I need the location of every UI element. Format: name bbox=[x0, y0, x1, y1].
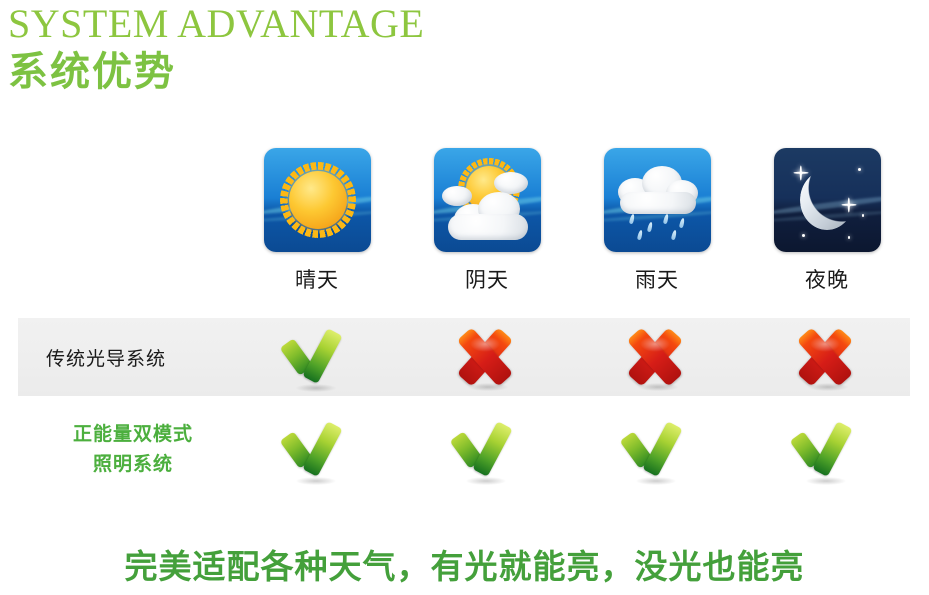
cell-traditional-cloudy bbox=[400, 329, 570, 385]
weather-column-header-row: 晴天 阴天 bbox=[232, 148, 929, 298]
cell-traditional-rainy bbox=[570, 329, 740, 385]
star-icon bbox=[858, 168, 861, 171]
star-icon bbox=[862, 214, 865, 217]
check-icon bbox=[286, 329, 344, 385]
raindrop-icon bbox=[670, 230, 676, 241]
rainy-icon bbox=[604, 148, 711, 252]
mark-drop-shadow bbox=[296, 477, 336, 485]
check-arm-long bbox=[642, 421, 682, 477]
cell-traditional-sunny bbox=[230, 329, 400, 385]
weather-column-rainy: 雨天 bbox=[572, 148, 742, 298]
page-title-chinese: 系统优势 bbox=[8, 48, 608, 96]
comparison-row-dualmode: 正能量双模式 照明系统 bbox=[18, 400, 910, 500]
check-arm-long bbox=[302, 421, 342, 477]
cloud-shape-icon bbox=[494, 172, 528, 194]
raindrop-icon bbox=[646, 222, 652, 233]
cross-icon bbox=[628, 330, 682, 384]
row-marks-traditional bbox=[230, 329, 910, 385]
check-icon bbox=[286, 422, 344, 478]
weather-label-night: 夜晚 bbox=[805, 264, 849, 294]
weather-label-cloudy: 阴天 bbox=[465, 264, 509, 294]
check-icon bbox=[626, 422, 684, 478]
weather-column-night: 夜晚 bbox=[742, 148, 912, 298]
star-icon bbox=[844, 200, 854, 210]
sun-disc-icon bbox=[289, 171, 347, 229]
cell-dualmode-night bbox=[740, 422, 910, 478]
cell-dualmode-sunny bbox=[230, 422, 400, 478]
mark-drop-shadow bbox=[638, 383, 678, 391]
slide-header: SYSTEM ADVANTAGE 系统优势 bbox=[8, 2, 608, 96]
page-title-english: SYSTEM ADVANTAGE bbox=[8, 2, 608, 46]
row-label-traditional: 传统光导系统 bbox=[18, 344, 230, 371]
row-label-dualmode: 正能量双模式 照明系统 bbox=[18, 420, 230, 480]
check-icon bbox=[796, 422, 854, 478]
cloud-shape-icon bbox=[442, 186, 472, 206]
cloud-shape-icon bbox=[448, 214, 528, 240]
row-marks-dualmode bbox=[230, 422, 910, 478]
cross-icon bbox=[798, 330, 852, 384]
night-moon-icon bbox=[774, 148, 881, 252]
weather-label-sunny: 晴天 bbox=[295, 264, 339, 294]
raindrop-icon bbox=[628, 214, 634, 225]
weather-column-sunny: 晴天 bbox=[232, 148, 402, 298]
slide-canvas: SYSTEM ADVANTAGE 系统优势 晴天 bbox=[0, 0, 929, 595]
cell-traditional-night bbox=[740, 329, 910, 385]
check-arm-long bbox=[302, 328, 342, 384]
cloud-shape-icon bbox=[620, 192, 696, 214]
mark-drop-shadow bbox=[468, 383, 508, 391]
row-label-dualmode-line2: 照明系统 bbox=[36, 450, 230, 480]
cell-dualmode-rainy bbox=[570, 422, 740, 478]
mark-drop-shadow bbox=[466, 477, 506, 485]
comparison-row-traditional: 传统光导系统 bbox=[18, 318, 910, 396]
cloudy-icon bbox=[434, 148, 541, 252]
mark-drop-shadow bbox=[296, 384, 336, 392]
star-icon bbox=[802, 234, 805, 237]
mark-drop-shadow bbox=[636, 477, 676, 485]
weather-column-cloudy: 阴天 bbox=[402, 148, 572, 298]
check-icon bbox=[456, 422, 514, 478]
raindrop-icon bbox=[636, 230, 642, 241]
weather-label-rainy: 雨天 bbox=[635, 264, 679, 294]
sunny-icon bbox=[264, 148, 371, 252]
star-icon bbox=[848, 236, 851, 239]
cross-icon bbox=[458, 330, 512, 384]
mark-drop-shadow bbox=[806, 477, 846, 485]
check-arm-long bbox=[812, 421, 852, 477]
bottom-tagline: 完美适配各种天气，有光就能亮，没光也能亮 bbox=[0, 540, 929, 588]
star-icon bbox=[794, 166, 808, 180]
mark-drop-shadow bbox=[808, 383, 848, 391]
check-arm-long bbox=[472, 421, 512, 477]
raindrop-icon bbox=[678, 218, 684, 229]
cell-dualmode-cloudy bbox=[400, 422, 570, 478]
row-label-dualmode-line1: 正能量双模式 bbox=[73, 424, 193, 445]
